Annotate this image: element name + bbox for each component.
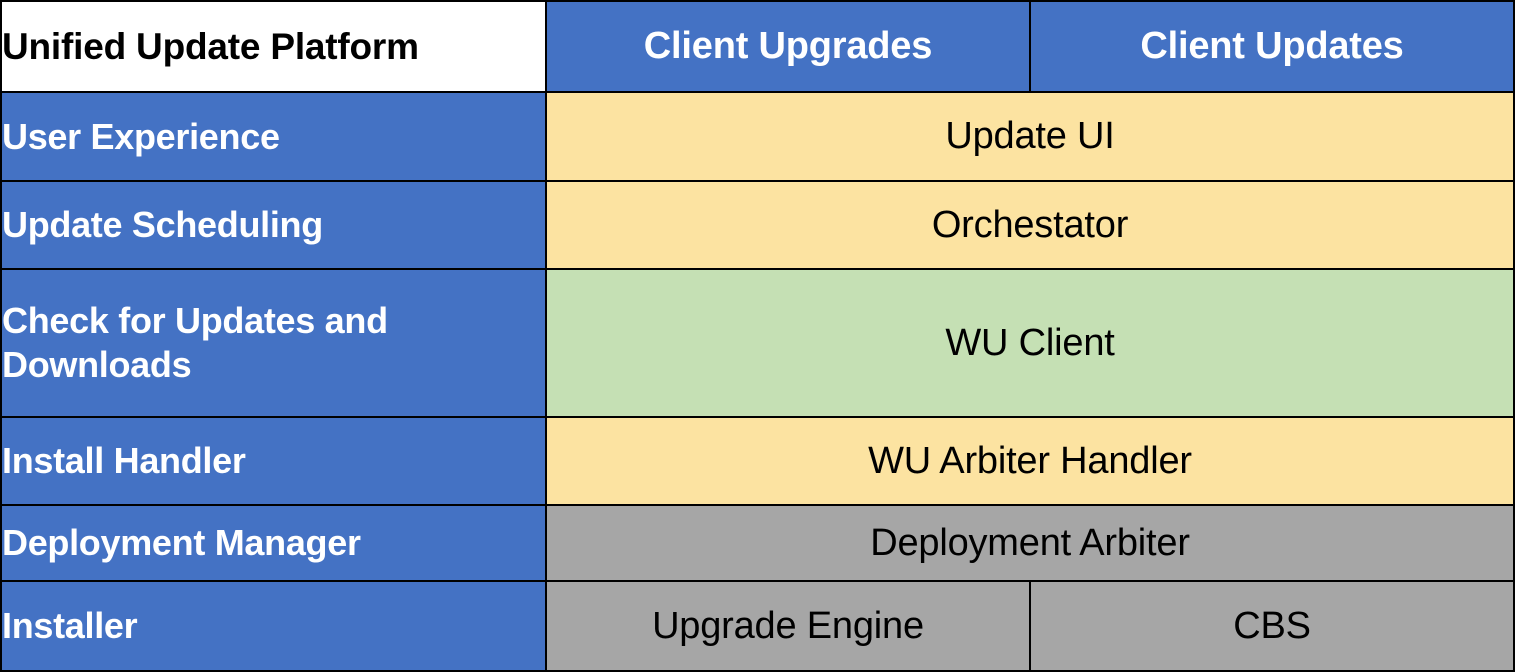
unified-update-platform-table: Unified Update Platform Client Upgrades …	[0, 0, 1515, 672]
table-header-row: Unified Update Platform Client Upgrades …	[1, 1, 1514, 92]
row-value-user-experience: Update UI	[546, 92, 1514, 181]
table-row: Check for Updates and Downloads WU Clien…	[1, 269, 1514, 417]
table-row: Install Handler WU Arbiter Handler	[1, 417, 1514, 505]
row-value-deployment-manager: Deployment Arbiter	[546, 505, 1514, 581]
row-label-install-handler: Install Handler	[1, 417, 546, 505]
table-corner-title: Unified Update Platform	[1, 1, 546, 92]
row-value-check-for-updates-and-downloads: WU Client	[546, 269, 1514, 417]
row-label-deployment-manager: Deployment Manager	[1, 505, 546, 581]
table-row: Deployment Manager Deployment Arbiter	[1, 505, 1514, 581]
row-value-install-handler: WU Arbiter Handler	[546, 417, 1514, 505]
column-header-client-upgrades: Client Upgrades	[546, 1, 1030, 92]
table-row: Update Scheduling Orchestator	[1, 181, 1514, 269]
row-value-installer-upgrades: Upgrade Engine	[546, 581, 1030, 671]
row-value-update-scheduling: Orchestator	[546, 181, 1514, 269]
row-label-check-for-updates-and-downloads: Check for Updates and Downloads	[1, 269, 546, 417]
table-row: Installer Upgrade Engine CBS	[1, 581, 1514, 671]
row-label-update-scheduling: Update Scheduling	[1, 181, 546, 269]
table-row: User Experience Update UI	[1, 92, 1514, 181]
column-header-client-updates: Client Updates	[1030, 1, 1514, 92]
row-label-installer: Installer	[1, 581, 546, 671]
row-label-user-experience: User Experience	[1, 92, 546, 181]
row-value-installer-updates: CBS	[1030, 581, 1514, 671]
